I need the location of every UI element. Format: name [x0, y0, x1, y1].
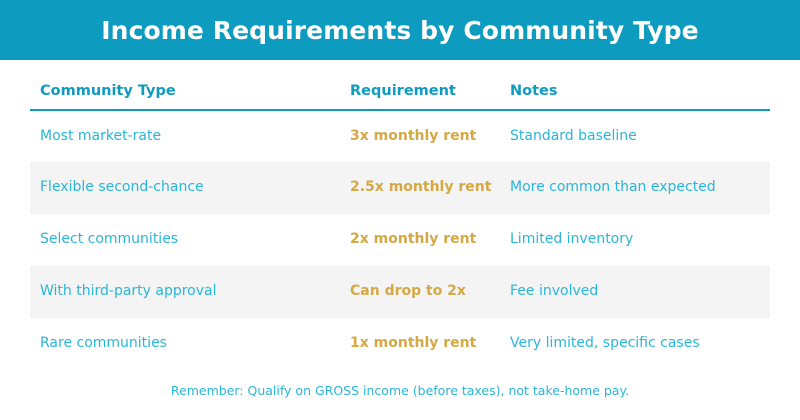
cell-requirement: 2.5x monthly rent	[340, 162, 500, 214]
cell-notes: Fee involved	[500, 266, 770, 318]
table-row: Most market-rate 3x monthly rent Standar…	[30, 110, 770, 162]
column-header-notes: Notes	[500, 60, 770, 110]
cell-community-type: Select communities	[30, 214, 340, 266]
table-header: Community Type Requirement Notes	[30, 60, 770, 110]
page-title: Income Requirements by Community Type	[101, 18, 698, 43]
cell-notes: More common than expected	[500, 162, 770, 214]
cell-notes: Limited inventory	[500, 214, 770, 266]
footer-note: Remember: Qualify on GROSS income (befor…	[0, 383, 800, 398]
cell-notes: Standard baseline	[500, 110, 770, 162]
cell-community-type: With third-party approval	[30, 266, 340, 318]
cell-requirement: 2x monthly rent	[340, 214, 500, 266]
cell-notes: Very limited, specific cases	[500, 318, 770, 370]
table-header-row: Community Type Requirement Notes	[30, 60, 770, 110]
cell-requirement: Can drop to 2x	[340, 266, 500, 318]
income-requirements-table: Community Type Requirement Notes Most ma…	[30, 60, 770, 370]
table-container: Community Type Requirement Notes Most ma…	[0, 60, 800, 370]
cell-requirement: 1x monthly rent	[340, 318, 500, 370]
table-body: Most market-rate 3x monthly rent Standar…	[30, 110, 770, 370]
header-banner: Income Requirements by Community Type	[0, 0, 800, 60]
table-row: Flexible second-chance 2.5x monthly rent…	[30, 162, 770, 214]
column-header-requirement: Requirement	[340, 60, 500, 110]
infographic-root: Income Requirements by Community Type Co…	[0, 0, 800, 420]
cell-community-type: Flexible second-chance	[30, 162, 340, 214]
cell-community-type: Most market-rate	[30, 110, 340, 162]
cell-community-type: Rare communities	[30, 318, 340, 370]
table-row: Select communities 2x monthly rent Limit…	[30, 214, 770, 266]
table-row: Rare communities 1x monthly rent Very li…	[30, 318, 770, 370]
table-row: With third-party approval Can drop to 2x…	[30, 266, 770, 318]
cell-requirement: 3x monthly rent	[340, 110, 500, 162]
column-header-community-type: Community Type	[30, 60, 340, 110]
